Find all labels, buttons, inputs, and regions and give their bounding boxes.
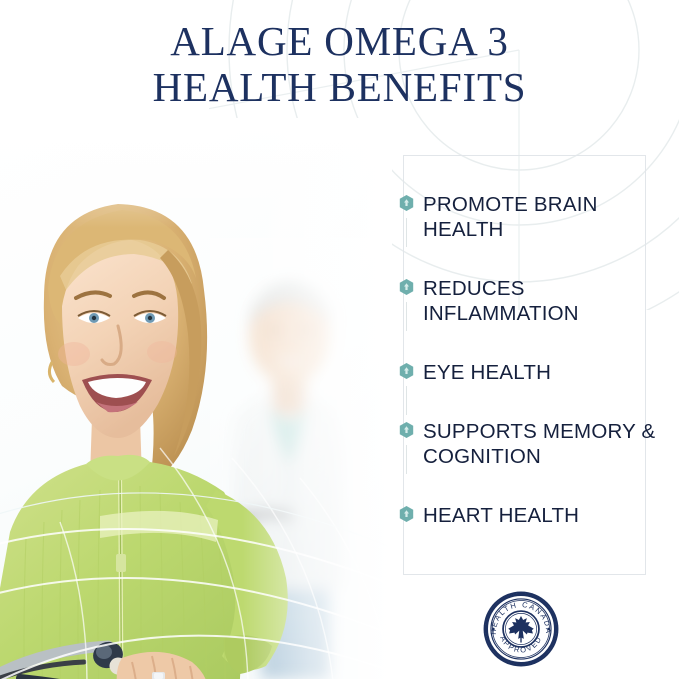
title-line-1: ALAGE OMEGA 3 bbox=[0, 18, 679, 64]
bullet-column bbox=[393, 360, 419, 379]
benefit-label: EYE HEALTH bbox=[423, 360, 551, 385]
hexagon-arrow-icon bbox=[399, 506, 414, 522]
hexagon-arrow-icon bbox=[399, 195, 414, 211]
poster-root: ALAGE OMEGA 3 HEALTH BENEFITS PROMOTE BR… bbox=[0, 0, 679, 679]
bullet-column bbox=[393, 419, 419, 438]
benefit-item-heart-health: HEART HEALTH bbox=[393, 503, 679, 528]
hexagon-arrow-icon bbox=[399, 422, 414, 438]
bullet-column bbox=[393, 192, 419, 211]
benefit-label: REDUCES INFLAMMATION bbox=[423, 276, 679, 326]
bullet-column bbox=[393, 503, 419, 522]
hexagon-arrow-icon bbox=[399, 279, 414, 295]
benefit-label: SUPPORTS MEMORY & COGNITION bbox=[423, 419, 679, 469]
title-line-2: HEALTH BENEFITS bbox=[0, 64, 679, 110]
benefit-item-supports-memory-cognition: SUPPORTS MEMORY & COGNITION bbox=[393, 419, 679, 469]
benefit-label: HEART HEALTH bbox=[423, 503, 579, 528]
hexagon-arrow-icon bbox=[399, 363, 414, 379]
benefit-item-reduces-inflammation: REDUCES INFLAMMATION bbox=[393, 276, 679, 326]
page-title: ALAGE OMEGA 3 HEALTH BENEFITS bbox=[0, 18, 679, 110]
hero-photo bbox=[0, 118, 392, 679]
bullet-column bbox=[393, 276, 419, 295]
health-canada-approved-seal: HEALTH CANADA APPROVED bbox=[482, 590, 560, 668]
benefit-label: PROMOTE BRAIN HEALTH bbox=[423, 192, 679, 242]
benefit-item-promote-brain-health: PROMOTE BRAIN HEALTH bbox=[393, 192, 679, 242]
benefit-item-eye-health: EYE HEALTH bbox=[393, 360, 679, 385]
benefits-list: PROMOTE BRAIN HEALTH REDUCES INFLAMMATIO… bbox=[393, 192, 679, 528]
